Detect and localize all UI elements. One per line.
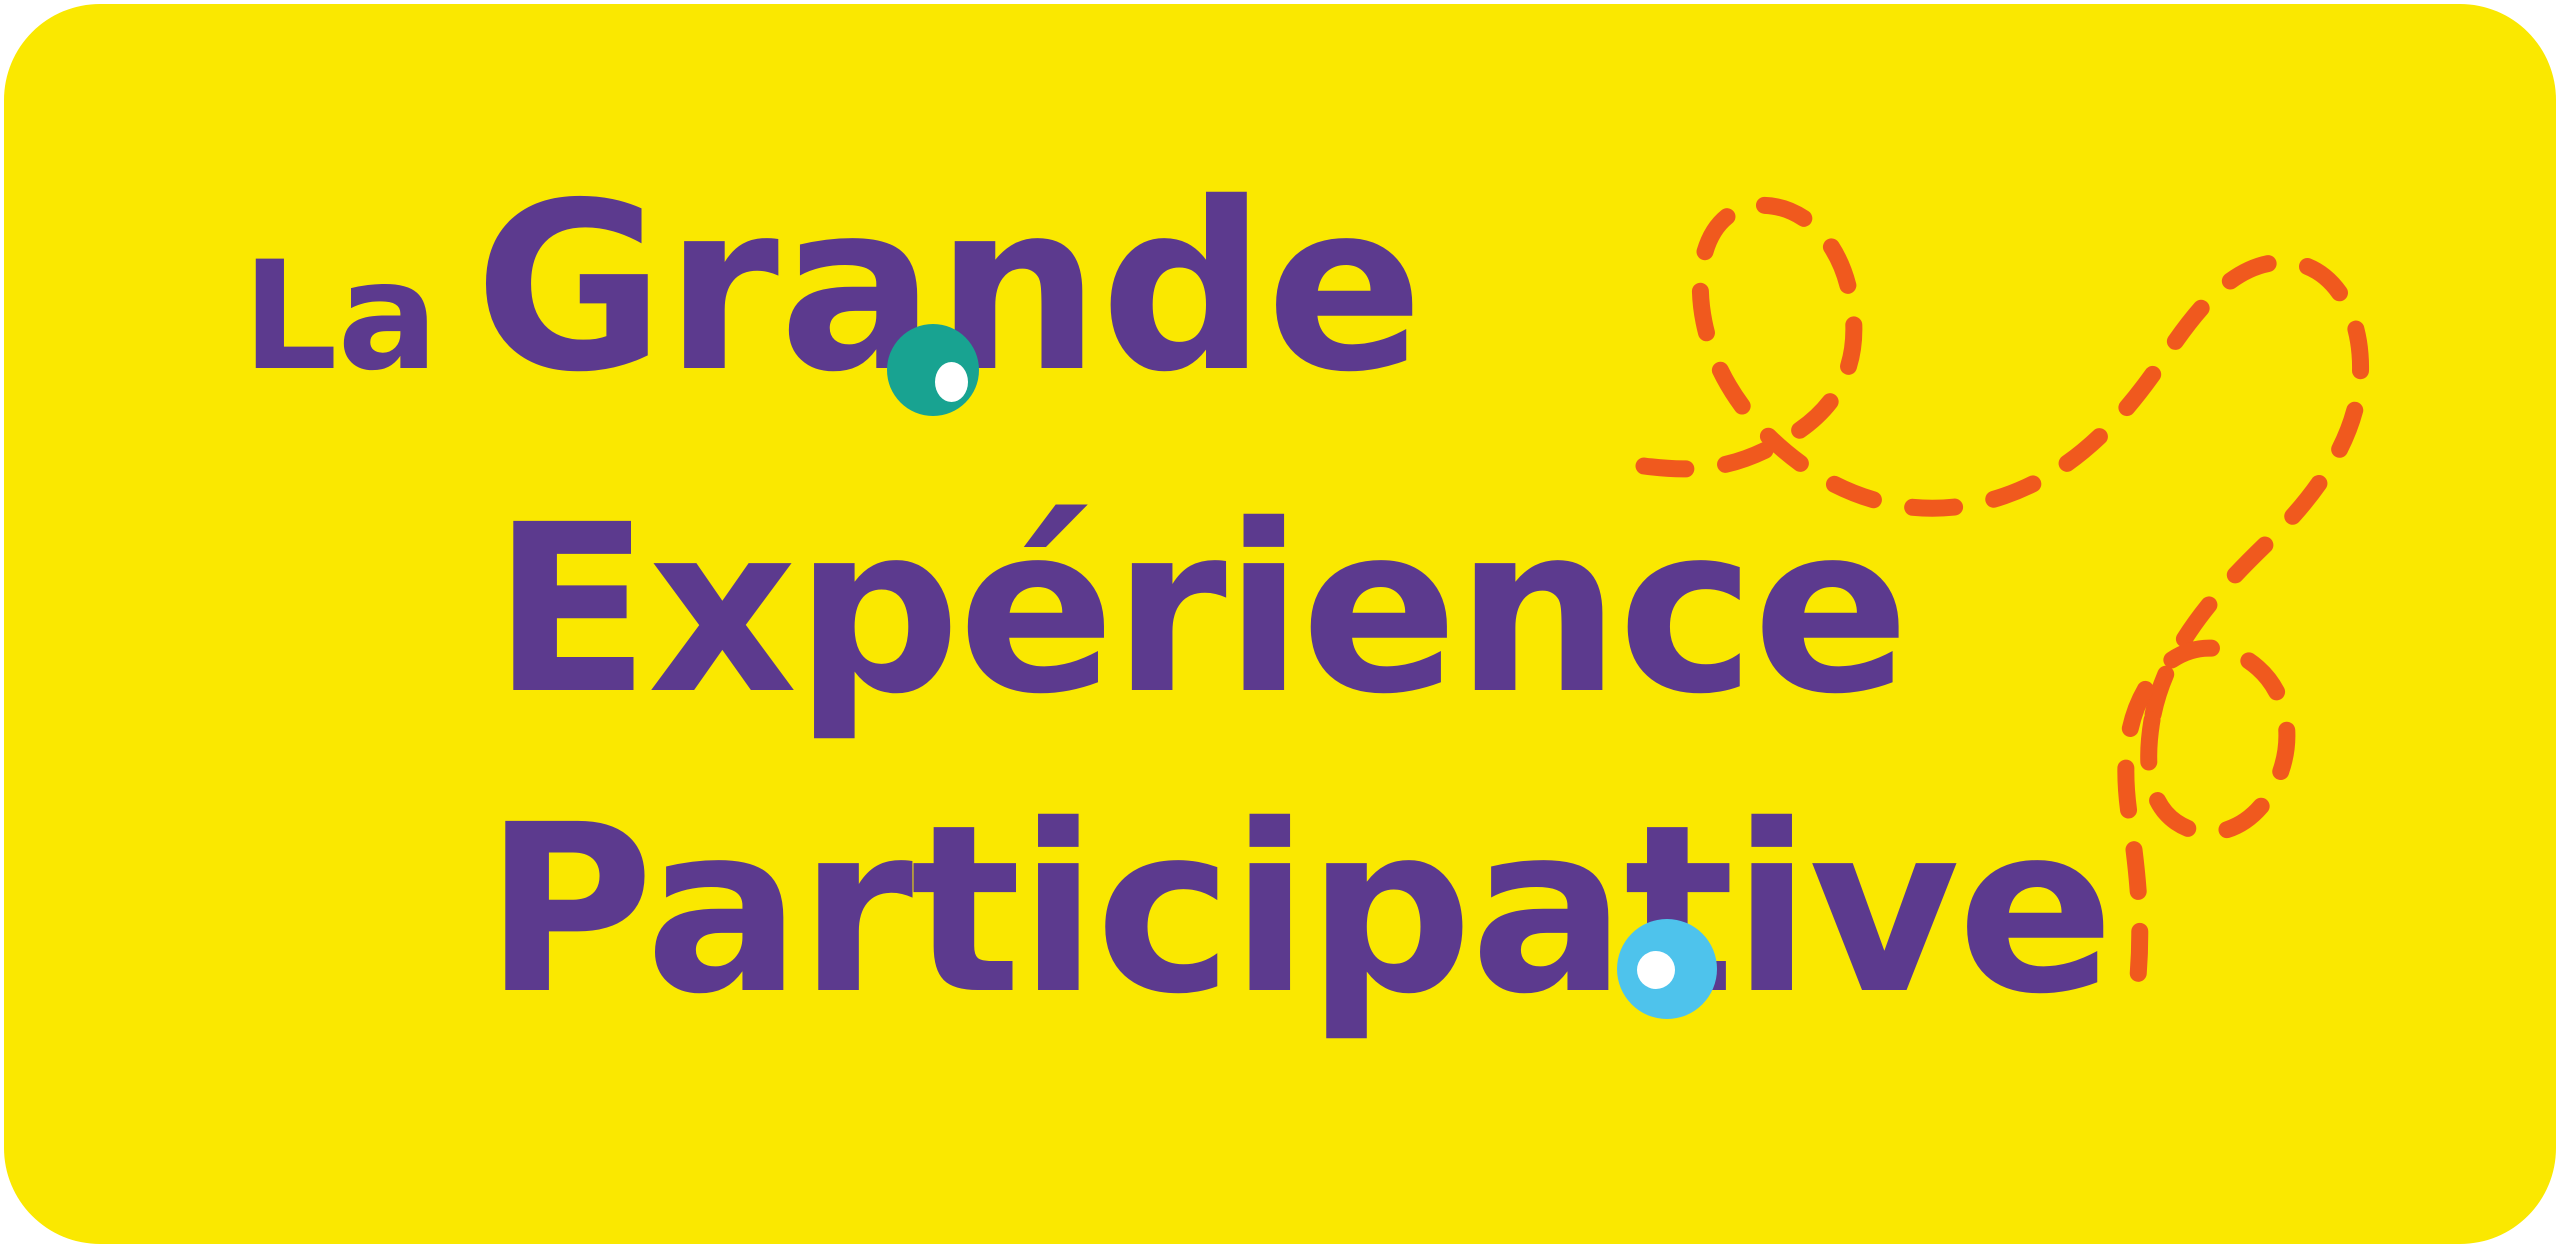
logo-canvas: La Grande Expérience Participative	[0, 0, 2560, 1248]
logo-word-la: La	[242, 242, 438, 392]
logo-line-1: La Grande	[242, 172, 1423, 382]
teal-accent-dot	[887, 324, 979, 416]
wordmark: La Grande Expérience Participative	[4, 4, 2556, 1244]
teal-accent-dot-core	[935, 362, 968, 402]
brand-card: La Grande Expérience Participative	[4, 4, 2556, 1244]
blue-accent-dot	[1617, 919, 1717, 1019]
logo-line-2: Expérience	[492, 494, 1907, 726]
logo-line-3: Participative	[484, 794, 2112, 1026]
blue-accent-dot-core	[1637, 951, 1675, 989]
